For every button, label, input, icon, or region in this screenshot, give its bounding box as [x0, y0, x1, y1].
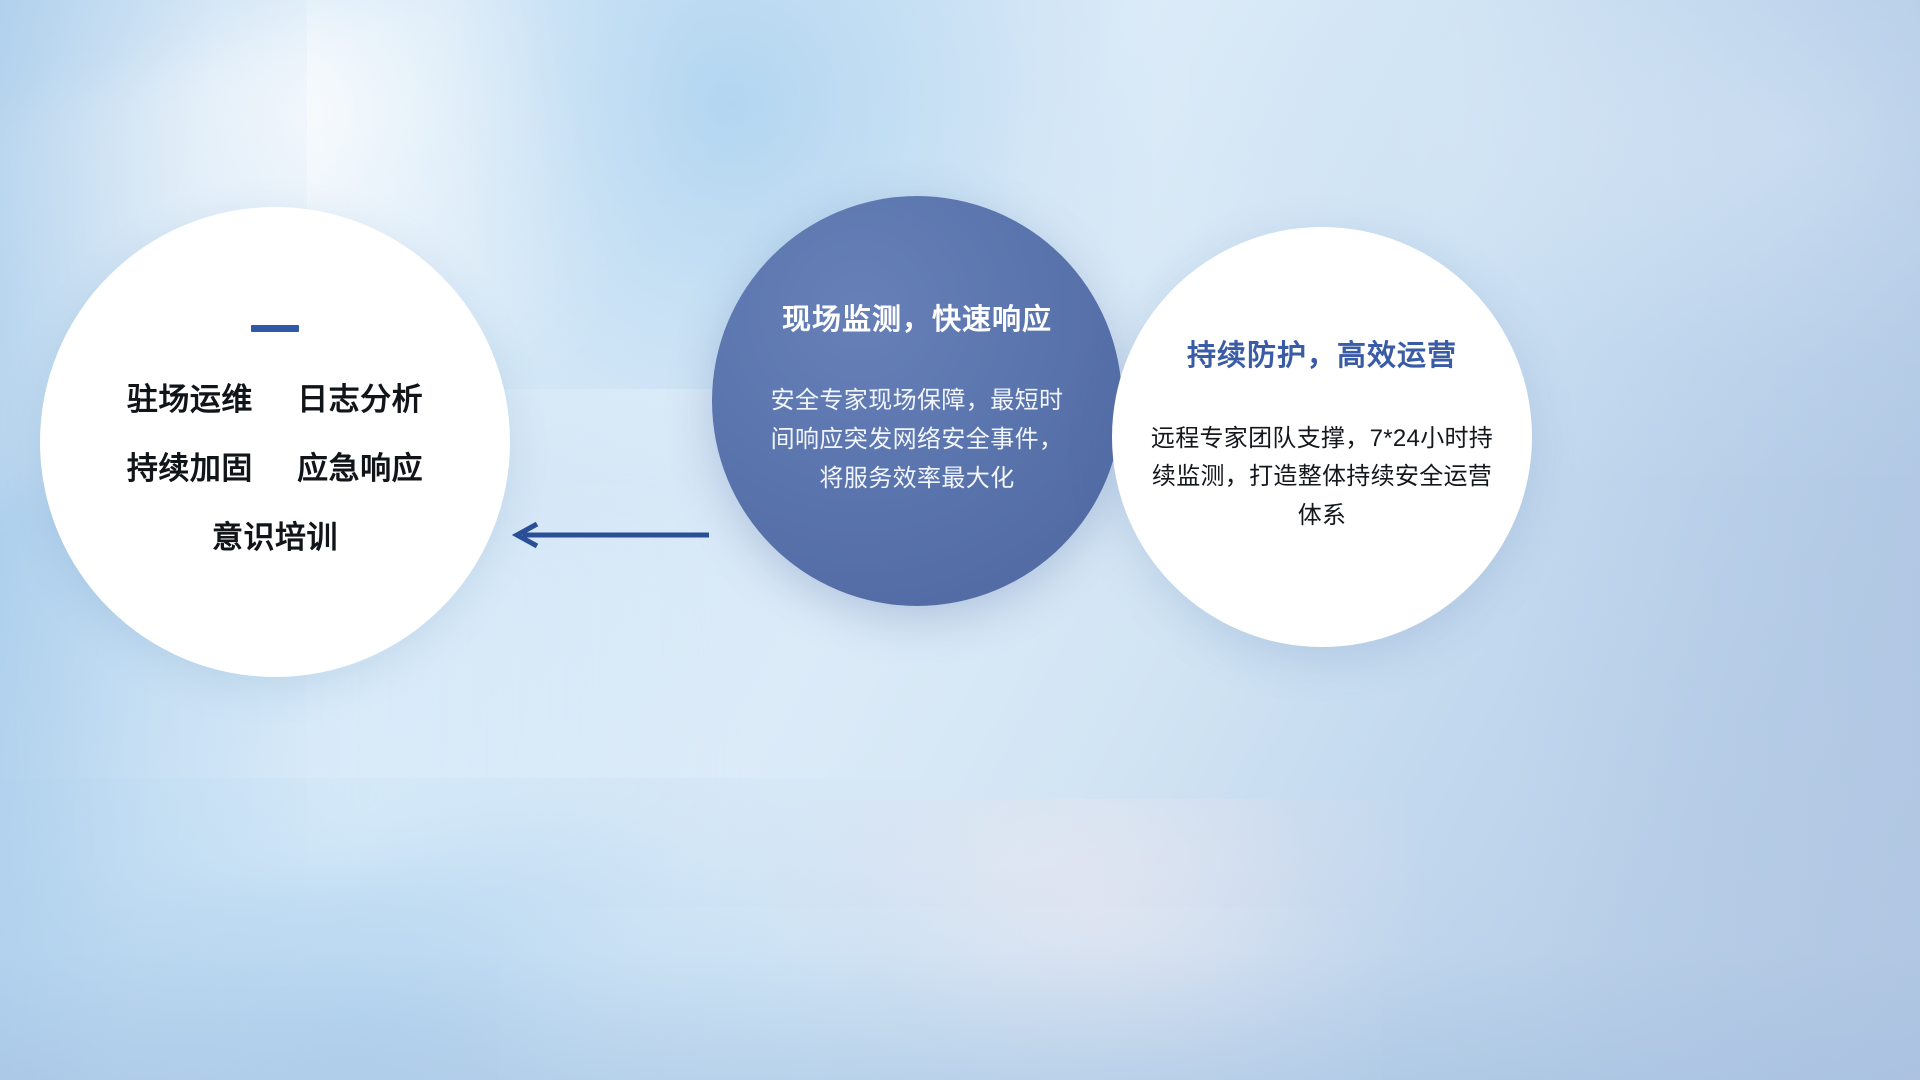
- keyword-label: 意识培训: [212, 520, 338, 555]
- arrow-left-icon: [497, 522, 713, 548]
- keyword-label: 应急响应: [297, 451, 423, 486]
- capability-circle-middle-content: 现场监测，快速响应 安全专家现场保障，最短时间响应突发网络安全事件，将服务效率最…: [752, 303, 1082, 498]
- capability-circle-left[interactable]: 驻场运维 日志分析 持续加固 应急响应 意识培训: [40, 207, 510, 677]
- right-circle-body: 远程专家团队支撑，7*24小时持续监测，打造整体持续安全运营体系: [1142, 420, 1502, 535]
- middle-circle-title: 现场监测，快速响应: [752, 303, 1082, 338]
- keyword-label: 持续加固: [127, 451, 253, 486]
- middle-circle-body: 安全专家现场保障，最短时间响应突发网络安全事件，将服务效率最大化: [767, 382, 1067, 499]
- divider-dash-icon: [251, 325, 299, 332]
- capability-circle-middle[interactable]: 现场监测，快速响应 安全专家现场保障，最短时间响应突发网络安全事件，将服务效率最…: [712, 196, 1122, 606]
- keyword-row: 驻场运维 日志分析: [127, 384, 423, 415]
- capability-circle-right[interactable]: 持续防护，高效运营 远程专家团队支撑，7*24小时持续监测，打造整体持续安全运营…: [1112, 227, 1532, 647]
- capability-circle-right-content: 持续防护，高效运营 远程专家团队支撑，7*24小时持续监测，打造整体持续安全运营…: [1132, 339, 1512, 535]
- diagram-canvas: 驻场运维 日志分析 持续加固 应急响应 意识培训 现场监测，快速响应 安全专家现…: [0, 0, 1920, 1080]
- keyword-label: 驻场运维: [127, 382, 253, 417]
- keyword-label: 日志分析: [297, 382, 423, 417]
- right-circle-title: 持续防护，高效运营: [1132, 339, 1512, 374]
- keyword-row: 意识培训: [127, 522, 423, 553]
- capability-circle-left-content: 驻场运维 日志分析 持续加固 应急响应 意识培训: [127, 325, 423, 559]
- keyword-row: 持续加固 应急响应: [127, 453, 423, 484]
